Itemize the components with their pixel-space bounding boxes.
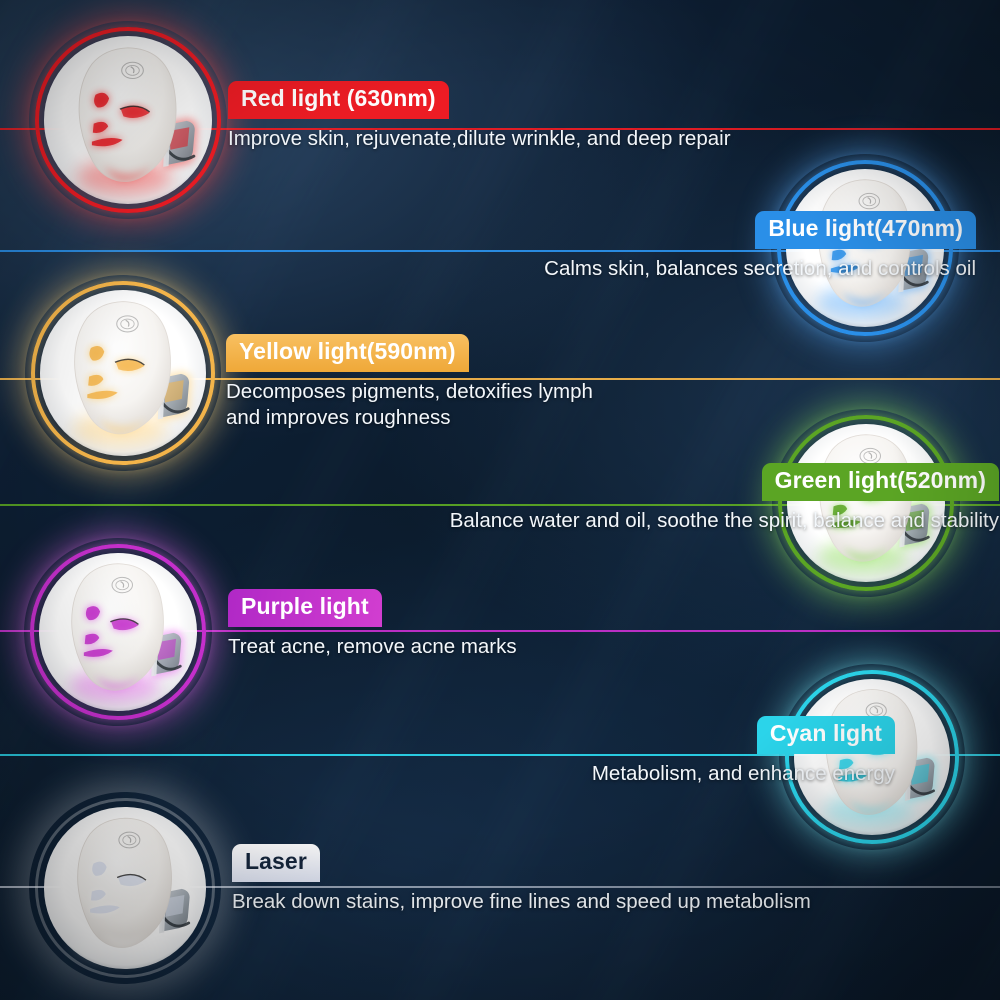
mode-label-purple[interactable]: Purple light: [228, 589, 382, 627]
mask-artwork-clip-red: [35, 27, 221, 213]
led-face-mask-illustration: [38, 801, 213, 976]
led-face-mask-illustration: [33, 547, 204, 718]
led-face-mask-illustration: [38, 30, 218, 210]
mask-artwork-clip-laser: [35, 798, 215, 978]
mask-circle-yellow: [31, 281, 215, 465]
mode-block-blue: Blue light(470nm)Calms skin, balances se…: [0, 211, 976, 282]
mode-description-yellow: Decomposes pigments, detoxifies lymph an…: [226, 372, 593, 431]
infographic-canvas: Red light (630nm)Improve skin, rejuvenat…: [0, 0, 1000, 1000]
mode-description-laser: Break down stains, improve fine lines an…: [232, 882, 811, 915]
mode-label-red[interactable]: Red light (630nm): [228, 81, 449, 119]
mode-block-laser: LaserBreak down stains, improve fine lin…: [232, 844, 811, 915]
mode-description-cyan: Metabolism, and enhance energy: [0, 754, 895, 787]
mask-artwork-clip-yellow: [31, 281, 215, 465]
mode-description-green: Balance water and oil, soothe the spirit…: [0, 501, 999, 534]
mode-block-red: Red light (630nm)Improve skin, rejuvenat…: [228, 81, 731, 152]
mask-circle-red: [35, 27, 221, 213]
mode-block-yellow: Yellow light(590nm)Decomposes pigments, …: [226, 334, 593, 431]
mask-circle-laser: [35, 798, 215, 978]
mode-description-red: Improve skin, rejuvenate,dilute wrinkle,…: [228, 119, 731, 152]
led-face-mask-illustration: [34, 284, 212, 462]
mask-circle-purple: [30, 544, 206, 720]
mode-label-laser[interactable]: Laser: [232, 844, 320, 882]
mode-block-cyan: Cyan lightMetabolism, and enhance energy: [0, 716, 895, 787]
mode-label-yellow[interactable]: Yellow light(590nm): [226, 334, 469, 372]
mode-block-purple: Purple lightTreat acne, remove acne mark…: [228, 589, 517, 660]
mask-artwork-clip-purple: [30, 544, 206, 720]
mode-label-green[interactable]: Green light(520nm): [762, 463, 999, 501]
mode-label-blue[interactable]: Blue light(470nm): [755, 211, 976, 249]
mode-block-green: Green light(520nm)Balance water and oil,…: [0, 463, 999, 534]
mode-label-cyan[interactable]: Cyan light: [757, 716, 895, 754]
mode-description-purple: Treat acne, remove acne marks: [228, 627, 517, 660]
